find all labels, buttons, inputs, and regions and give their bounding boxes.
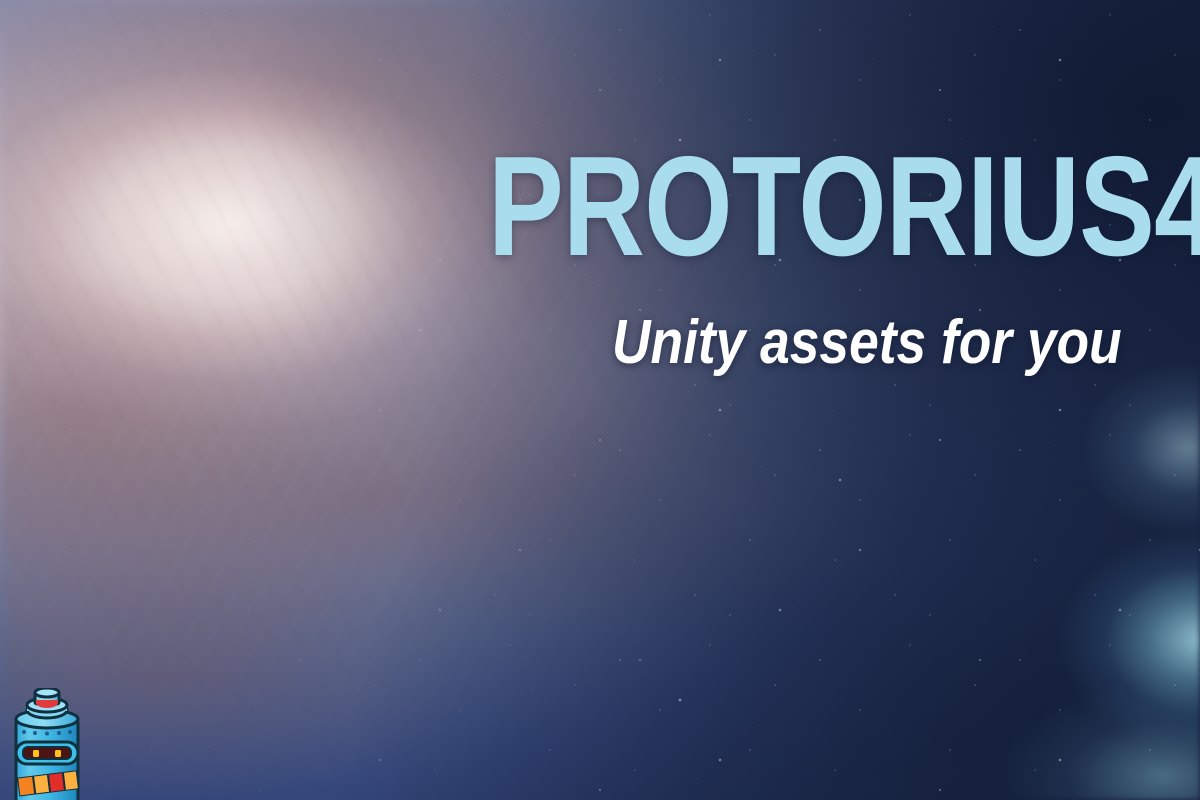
brand-text-block: PROTORIUS42 Unity assets for you: [0, 0, 1200, 800]
robot-cap: [35, 688, 59, 708]
robot-mascot-logo: [2, 688, 110, 800]
robot-eye-right: [55, 750, 61, 757]
hero-banner: PROTORIUS42 Unity assets for you: [0, 0, 1200, 800]
brand-title: PROTORIUS42: [488, 136, 1200, 278]
robot-eye-left: [33, 750, 39, 757]
brand-tagline: Unity assets for you: [612, 312, 1122, 374]
robot-visor: [16, 742, 78, 764]
robot-mascot-icon: [2, 688, 110, 800]
